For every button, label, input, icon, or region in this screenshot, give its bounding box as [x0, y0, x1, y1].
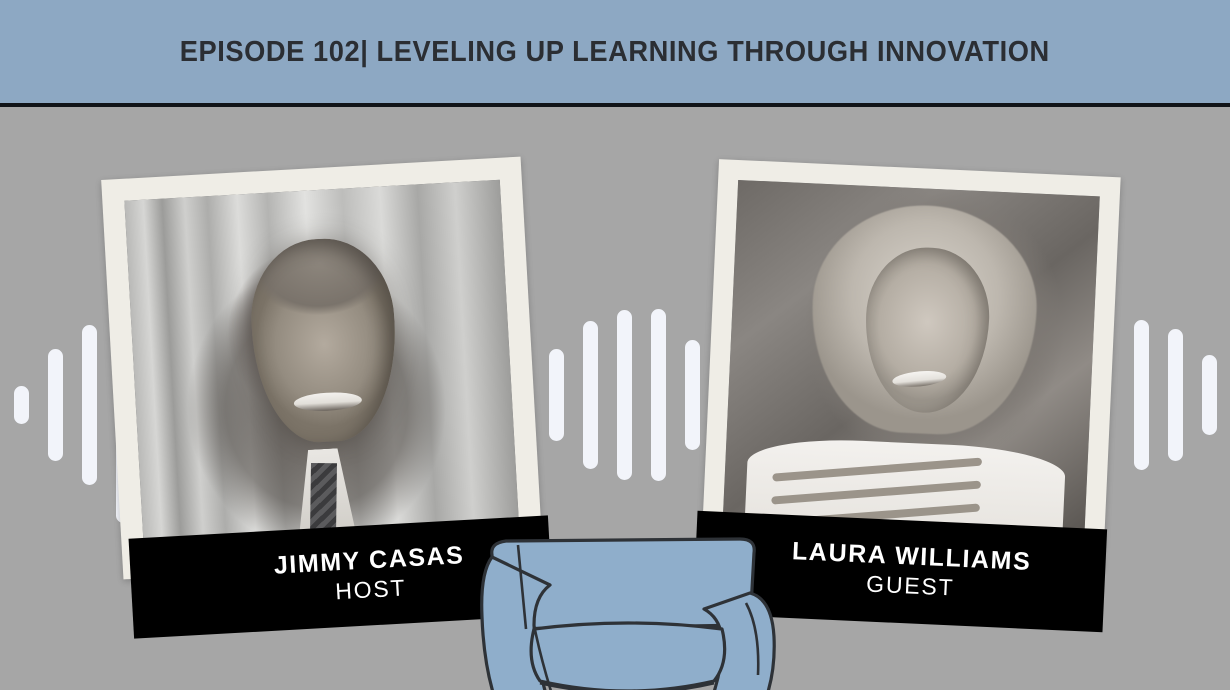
polaroid-guest: [701, 159, 1120, 569]
waveform-bar: [1202, 355, 1217, 435]
nameplate-name-guest: LAURA WILLIAMS: [791, 538, 1031, 575]
waveform-bar: [82, 325, 97, 485]
portrait-face-guest: [862, 245, 992, 416]
header-divider-rule: [0, 103, 1230, 107]
waveform-right: [1134, 300, 1230, 490]
episode-title: EPISODE 102| LEVELING UP LEARNING THROUG…: [180, 36, 1050, 69]
nameplate-name-host: JIMMY CASAS: [273, 542, 465, 579]
nameplate-role-guest: GUEST: [866, 570, 955, 603]
portrait-face-host: [247, 235, 401, 446]
waveform-bar: [549, 349, 564, 441]
nameplate-role-host: HOST: [334, 573, 407, 606]
episode-header-band: EPISODE 102| LEVELING UP LEARNING THROUG…: [0, 0, 1230, 104]
chair-seat: [531, 623, 725, 690]
waveform-bar: [583, 321, 598, 469]
portrait-image-guest: [723, 180, 1100, 541]
waveform-bar: [685, 340, 700, 450]
portrait-smile-guest: [892, 369, 947, 389]
portrait-photo-host: [124, 180, 519, 550]
waveform-bar: [617, 310, 632, 480]
sweater-stripe: [772, 457, 982, 481]
portrait-smile-host: [293, 391, 362, 413]
waveform-bar: [14, 386, 29, 424]
polaroid-host: [101, 157, 543, 580]
waveform-bar: [1134, 320, 1149, 470]
waveform-bar: [651, 309, 666, 481]
armchair-icon: [478, 533, 778, 690]
podcast-episode-graphic: EPISODE 102| LEVELING UP LEARNING THROUG…: [0, 0, 1230, 690]
portrait-photo-guest: [723, 180, 1100, 541]
portrait-hair-guest: [807, 201, 1042, 439]
portrait-image-host: [124, 180, 519, 550]
waveform-bar: [48, 349, 63, 461]
waveform-bar: [1168, 329, 1183, 461]
sweater-stripe: [771, 480, 981, 504]
